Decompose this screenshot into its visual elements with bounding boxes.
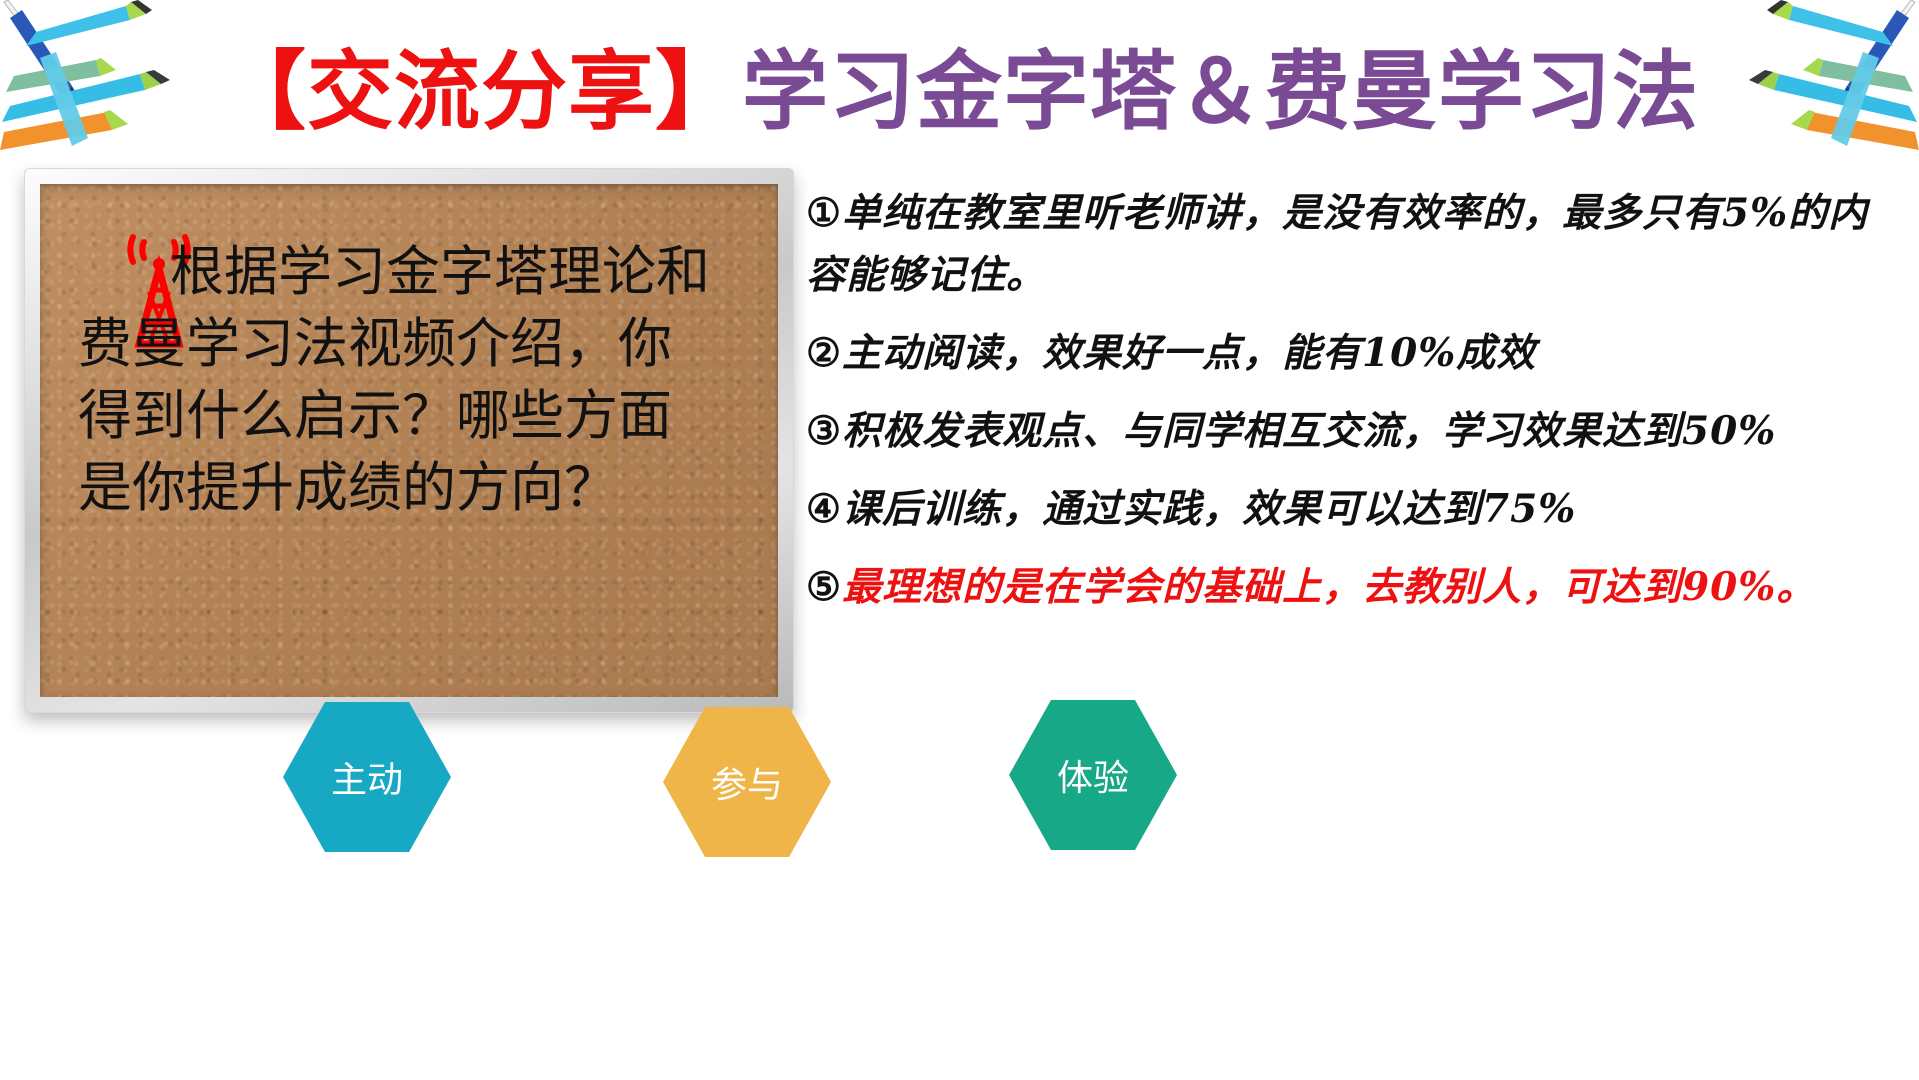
board-line-2-text: 费曼学习法视频介绍，你 (78, 312, 672, 375)
bullet-text-3: 积极发表观点、与同学相互交流，学习效果达到50% (842, 408, 1776, 454)
bullet-item-3: ③积极发表观点、与同学相互交流，学习效果达到50% (806, 400, 1904, 462)
bullet-item-4: ④课后训练，通过实践，效果可以达到75% (806, 478, 1904, 540)
bullet-number-2: ② (806, 330, 842, 376)
title-bracket-part: 【交流分享】 (220, 49, 742, 135)
board-surface: 根据学习金字塔理论和 费曼学习法视频介绍，你 得到什么启示？哪些方面 是你提升成… (40, 184, 778, 697)
hexagon-active[interactable]: 主动 (283, 702, 451, 852)
bullet-item-5: ⑤最理想的是在学会的基础上，去教别人，可达到90%。 (806, 556, 1904, 618)
learning-pyramid-bullet-list: ①单纯在教室里听老师讲，是没有效率的，最多只有5%的内容能够记住。 ②主动阅读，… (806, 182, 1904, 634)
board-line-3-text: 得到什么启示？哪些方面 (78, 384, 672, 447)
board-line-3: 得到什么启示？哪些方面 (78, 380, 748, 452)
board-line-4-text: 是你提升成绩的方向？ (78, 456, 618, 519)
board-line-1-text: 根据学习金字塔理论和 (170, 240, 710, 303)
bullet-item-1: ①单纯在教室里听老师讲，是没有效率的，最多只有5%的内容能够记住。 (806, 182, 1904, 306)
bullet-text-2: 主动阅读，效果好一点，能有10%成效 (842, 330, 1536, 376)
hexagon-experience[interactable]: 体验 (1009, 700, 1177, 850)
bullet-number-3: ③ (806, 408, 842, 454)
bullet-text-1: 单纯在教室里听老师讲，是没有效率的，最多只有5%的内容能够记住。 (806, 190, 1868, 298)
title-main-part: 学习金字塔＆费曼学习法 (742, 49, 1699, 135)
hexagon-label-1: 主动 (331, 751, 403, 803)
bullet-text-4: 课后训练，通过实践，效果可以达到75% (842, 486, 1576, 532)
bullet-number-4: ④ (806, 486, 842, 532)
board-line-2: 费曼学习法视频介绍，你 (78, 308, 748, 380)
board-line-1: 根据学习金字塔理论和 (78, 236, 748, 308)
board-line-4: 是你提升成绩的方向？ (78, 452, 748, 524)
cork-board: 根据学习金字塔理论和 费曼学习法视频介绍，你 得到什么启示？哪些方面 是你提升成… (24, 168, 794, 713)
hexagon-participate[interactable]: 参与 (663, 707, 831, 857)
hexagon-label-3: 体验 (1057, 749, 1129, 801)
slide-canvas: 【交流分享】学习金字塔＆费曼学习法 (0, 0, 1919, 1080)
bullet-item-2: ②主动阅读，效果好一点，能有10%成效 (806, 322, 1904, 384)
bullet-text-5: 最理想的是在学会的基础上，去教别人，可达到90%。 (842, 564, 1816, 610)
board-question-text: 根据学习金字塔理论和 费曼学习法视频介绍，你 得到什么启示？哪些方面 是你提升成… (78, 236, 748, 524)
bullet-number-5: ⑤ (806, 564, 842, 610)
page-title: 【交流分享】学习金字塔＆费曼学习法 (0, 38, 1919, 146)
hexagon-label-2: 参与 (711, 756, 783, 808)
bullet-number-1: ① (806, 190, 842, 236)
board-frame: 根据学习金字塔理论和 费曼学习法视频介绍，你 得到什么启示？哪些方面 是你提升成… (24, 168, 794, 713)
